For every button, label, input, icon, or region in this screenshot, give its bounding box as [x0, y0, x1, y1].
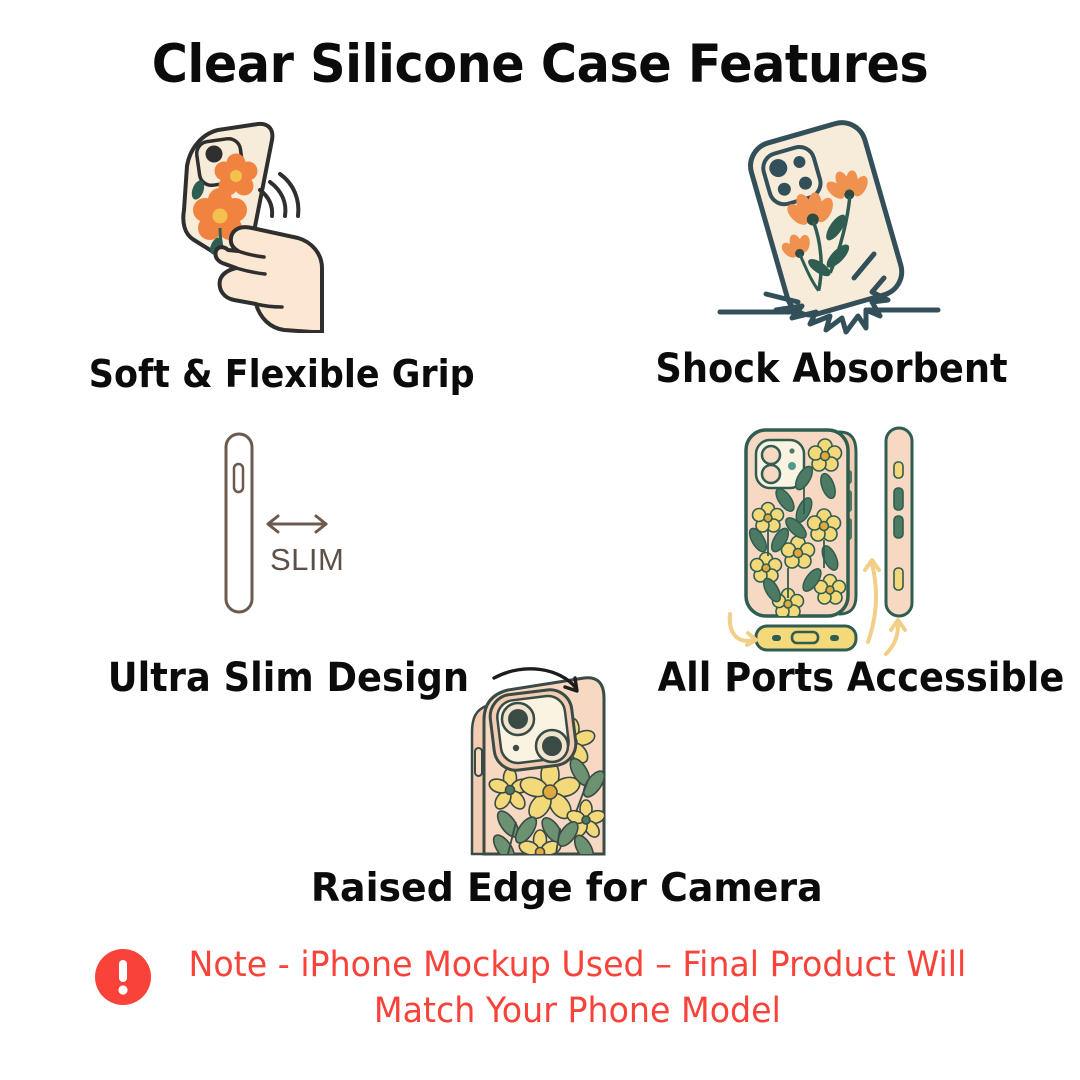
phone-raised-camera-bump-icon — [452, 662, 632, 857]
volume-up-button-icon — [894, 488, 903, 510]
note-text: Note - iPhone Mockup Used – Final Produc… — [188, 942, 966, 1034]
phone-back-side-bottom-ports-icon — [700, 418, 950, 658]
hand-flexing-phone-case-icon — [132, 118, 362, 333]
feature-label-raised-edge-for-camera: Raised Edge for Camera — [311, 866, 823, 911]
soft-flexible-grip-illustration — [132, 118, 362, 338]
all-ports-accessible-illustration — [700, 418, 950, 663]
slim-caption: SLIM — [270, 542, 344, 577]
side-button-icon — [475, 748, 482, 776]
feature-label-ultra-slim-design: Ultra Slim Design — [108, 655, 469, 701]
ultra-slim-design-illustration: SLIM — [186, 428, 346, 623]
infographic-canvas: Clear Silicone Case Features — [0, 0, 1080, 1080]
feature-label-soft-flexible-grip: Soft & Flexible Grip — [89, 352, 475, 396]
bottom-edge-ports-icon — [756, 626, 856, 650]
note-line-1: Note - iPhone Mockup Used – Final Produc… — [188, 942, 966, 988]
feature-label-shock-absorbent: Shock Absorbent — [655, 346, 1007, 392]
phone-side-profile-icon: SLIM — [186, 428, 346, 618]
power-button-icon — [894, 568, 903, 590]
phone-impact-burst-icon — [706, 112, 956, 342]
volume-down-button-icon — [894, 516, 903, 538]
silent-switch-icon — [894, 462, 903, 478]
shock-absorbent-illustration — [706, 112, 956, 347]
side-button-icon — [234, 464, 243, 492]
exclamation-circle-icon — [94, 948, 152, 1011]
feature-label-all-ports-accessible: All Ports Accessible — [658, 655, 1065, 701]
note-line-2: Match Your Phone Model — [188, 988, 966, 1034]
page-title: Clear Silicone Case Features — [38, 34, 1042, 95]
arrow-to-side-buttons-icon — [868, 564, 876, 642]
raised-edge-camera-illustration — [452, 662, 632, 862]
note-banner: Note - iPhone Mockup Used – Final Produc… — [0, 942, 1080, 1034]
